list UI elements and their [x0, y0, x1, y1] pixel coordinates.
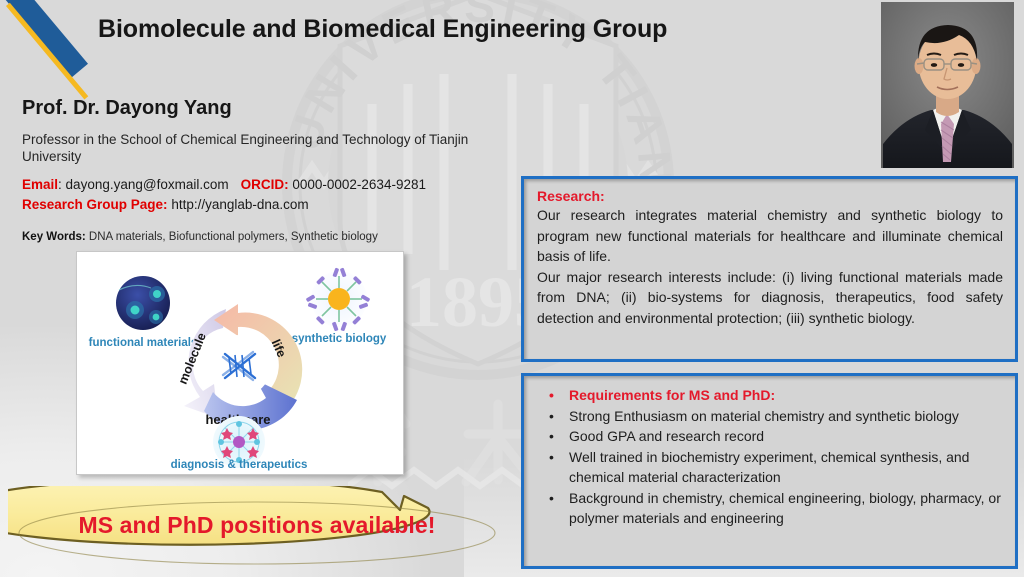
bullet-icon: • — [549, 406, 554, 427]
bullet-icon: • — [549, 426, 554, 447]
email-value[interactable]: dayong.yang@foxmail.com — [66, 177, 229, 192]
bullet-icon: • — [549, 447, 554, 468]
figure-label-synthetic-biology: synthetic biology — [292, 333, 387, 345]
bullet-icon: • — [549, 488, 554, 509]
requirements-heading: • Requirements for MS and PhD: — [537, 385, 1003, 406]
professor-portrait — [881, 2, 1014, 168]
email-label: Email — [22, 177, 58, 192]
research-paragraph-1: Our research integrates material chemist… — [537, 205, 1003, 267]
keywords-line: Key Words: DNA materials, Biofunctional … — [22, 231, 378, 243]
research-heading: Research: — [537, 188, 1003, 204]
requirement-text: Well trained in biochemistry experiment,… — [569, 449, 969, 486]
requirements-panel: • Requirements for MS and PhD: • Strong … — [521, 373, 1018, 569]
requirement-text: Good GPA and research record — [569, 428, 764, 444]
keywords-value: DNA materials, Biofunctional polymers, S… — [89, 231, 378, 243]
orcid-value: 0000-0002-2634-9281 — [292, 177, 426, 192]
requirement-item: • Good GPA and research record — [537, 426, 1003, 447]
orcid-label: ORCID: — [241, 177, 289, 192]
requirement-item: • Background in chemistry, chemical engi… — [537, 488, 1003, 529]
research-cycle-figure: functional materials — [76, 251, 404, 475]
figure-label-diagnosis-therapeutics: diagnosis & therapeutics — [171, 459, 308, 471]
group-page-value[interactable]: http://yanglab-dna.com — [171, 197, 308, 212]
bullet-icon: • — [549, 385, 554, 406]
page-title: Biomolecule and Biomedical Engineering G… — [98, 15, 667, 44]
group-page-label: Research Group Page: — [22, 197, 168, 212]
contact-line-email: Email: dayong.yang@foxmail.comORCID: 000… — [22, 176, 426, 193]
contact-line-group-page: Research Group Page: http://yanglab-dna.… — [22, 196, 309, 213]
callout-text: MS and PhD positions available! — [8, 512, 506, 539]
figure-label-functional-materials: functional materials — [89, 337, 198, 349]
requirement-item: • Well trained in biochemistry experimen… — [537, 447, 1003, 488]
email-separator: : — [58, 177, 66, 192]
research-panel: Research: Our research integrates materi… — [521, 176, 1018, 362]
keywords-label: Key Words: — [22, 231, 86, 243]
person-name: Prof. Dr. Dayong Yang — [22, 97, 232, 120]
positions-available-callout: MS and PhD positions available! — [8, 486, 506, 568]
person-affiliation: Professor in the School of Chemical Engi… — [22, 131, 522, 165]
requirements-list: • Requirements for MS and PhD: • Strong … — [537, 385, 1003, 529]
research-paragraph-2: Our major research interests include: (i… — [537, 267, 1003, 329]
requirement-text: Strong Enthusiasm on material chemistry … — [569, 408, 959, 424]
requirement-text: Background in chemistry, chemical engine… — [569, 490, 1001, 527]
requirement-item: • Strong Enthusiasm on material chemistr… — [537, 406, 1003, 427]
poster-slide: 1895 UNIVERSITY TIANJIN Biomolecule a — [0, 0, 1024, 577]
requirements-heading-label: Requirements for MS and PhD: — [569, 387, 775, 403]
